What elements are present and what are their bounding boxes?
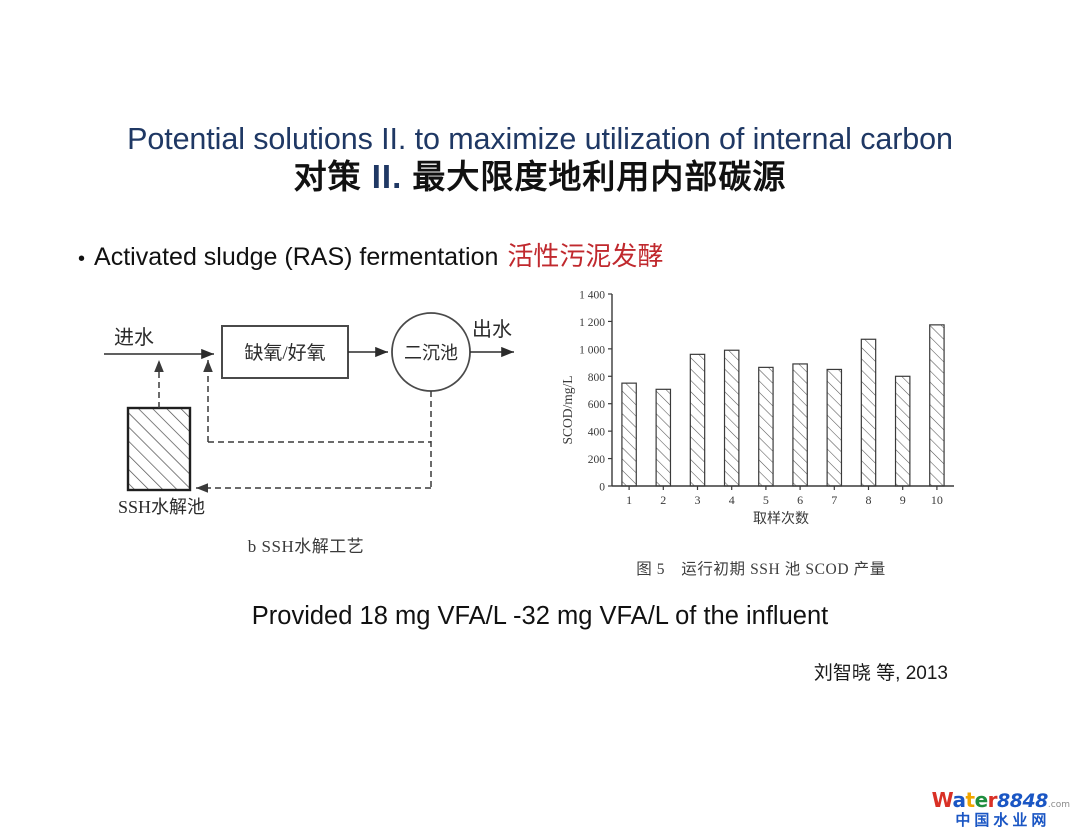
page-title-chinese: 对策 II. 最大限度地利用内部碳源: [0, 158, 1080, 197]
flow-label-effluent: 出水: [472, 318, 512, 341]
page-title-chinese-suffix: 最大限度地利用内部碳源: [402, 158, 786, 195]
chart-y-tick-label: 1 000: [579, 344, 605, 356]
page-title-english: Potential solutions II. to maximize util…: [0, 122, 1080, 156]
scod-bar-chart: 02004006008001 0001 2001 40012345678910 …: [556, 280, 966, 530]
flow-label-clarifier: 二沉池: [404, 343, 458, 363]
watermark-letter-a: a: [953, 788, 966, 812]
chart-bar: [861, 339, 875, 486]
bullet-dot-icon: •: [78, 249, 85, 269]
chart-bar: [793, 364, 807, 486]
chart-y-tick-label: 400: [588, 427, 606, 439]
chart-bar: [690, 354, 704, 486]
chart-y-axis-label: SCOD/mg/L: [560, 375, 575, 444]
chart-x-tick-label: 7: [831, 493, 837, 507]
chart-x-tick-label: 2: [660, 493, 666, 507]
bullet-item: • Activated sludge (RAS) fermentation 活性…: [78, 236, 663, 273]
chart-bar: [725, 350, 739, 486]
chart-x-tick-label: 6: [797, 493, 803, 507]
chart-x-tick-label: 10: [931, 493, 943, 507]
chart-x-tick-label: 5: [763, 493, 769, 507]
chart-x-tick-label: 9: [900, 493, 906, 507]
page-title-numeral: II.: [372, 158, 403, 195]
watermark-wordmark: Water8848.com: [932, 790, 1070, 811]
watermark-letter-e: e: [975, 788, 988, 812]
flow-label-ssh-tank: SSH水解池: [118, 497, 205, 517]
watermark-domain-suffix: .com: [1048, 800, 1070, 810]
chart-y-tick-label: 1 400: [579, 290, 605, 302]
chart-bar: [759, 367, 773, 486]
chart-x-tick-label: 3: [695, 493, 701, 507]
watermark-letter-t: t: [966, 788, 975, 812]
chart-x-tick-label: 4: [729, 493, 735, 507]
chart-y-tick-label: 200: [588, 454, 606, 466]
watermark-number: 8848: [997, 790, 1048, 812]
chart-x-tick-label: 8: [866, 493, 872, 507]
chart-y-tick-label: 0: [599, 482, 605, 494]
slide-title-block: Potential solutions II. to maximize util…: [0, 122, 1080, 197]
chart-x-axis-label: 取样次数: [753, 511, 809, 527]
flow-label-influent: 进水: [114, 326, 154, 349]
watermark-letter-w: W: [932, 788, 953, 812]
chart-y-tick-label: 800: [588, 372, 606, 384]
provided-statement: Provided 18 mg VFA/L -32 mg VFA/L of the…: [0, 602, 1080, 631]
chart-caption: 图 5 运行初期 SSH 池 SCOD 产量: [556, 557, 966, 579]
chart-y-tick-label: 600: [588, 399, 606, 411]
chart-bar: [656, 389, 670, 486]
chart-bar: [930, 325, 944, 486]
page-title-chinese-prefix: 对策: [294, 158, 372, 195]
bullet-label-chinese: 活性污泥发酵: [507, 236, 663, 273]
chart-x-tick-label: 1: [626, 493, 632, 507]
flow-node-ssh-tank: [128, 408, 190, 490]
watermark-logo: Water8848.com 中国水业网: [932, 790, 1070, 828]
watermark-letter-r: r: [988, 788, 997, 812]
chart-bar: [896, 376, 910, 486]
bullet-label-english: Activated sludge (RAS) fermentation: [94, 243, 498, 272]
process-flow-diagram: 进水 缺氧/好氧 二沉池 出水 SSH水解池: [96, 296, 516, 566]
chart-bar: [827, 369, 841, 486]
flow-label-reactor: 缺氧/好氧: [244, 342, 325, 364]
watermark-chinese: 中国水业网: [932, 813, 1070, 828]
flow-diagram-caption: b SSH水解工艺: [96, 532, 516, 557]
chart-y-tick-label: 1 200: [579, 317, 605, 329]
chart-bar: [622, 383, 636, 486]
attribution-citation: 刘智晓 等, 2013: [814, 658, 948, 685]
